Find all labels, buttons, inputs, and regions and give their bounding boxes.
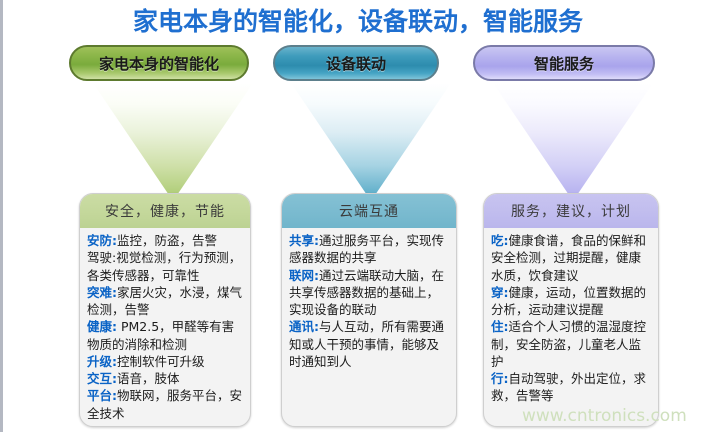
funnel-arrow-blue <box>291 83 451 201</box>
card-appliance-intelligence: 安全，健康，节能 安防:监控，防盗，告警 驾驶:视觉检测，行为预测，各类传感器，… <box>79 193 251 427</box>
list-item: 行:自动驾驶，外出定位，求救，告警等 <box>491 370 652 405</box>
item-label: 平台: <box>87 388 117 403</box>
list-item: 驾驶:视觉检测，行为预测，各类传感器，可靠性 <box>87 249 244 284</box>
item-label: 健康: <box>87 319 117 334</box>
item-label: 穿: <box>491 285 509 300</box>
card-body: 共享:通过服务平台，实现传感器数据的共享 联网:通过云端联动大脑，在共享传感器数… <box>282 228 456 370</box>
pill-label: 家电本身的智能化 <box>99 53 219 74</box>
item-label: 联网: <box>289 268 319 283</box>
list-item: 联网:通过云端联动大脑，在共享传感器数据的基础上，实现设备的联动 <box>289 267 450 319</box>
list-item: 平台:物联网，服务平台，安全技术 <box>87 387 244 422</box>
item-label: 交互: <box>87 371 117 386</box>
list-item: 健康: PM2.5，甲醛等有害物质的消除和检测 <box>87 318 244 353</box>
page-title: 家电本身的智能化，设备联动，智能服务 <box>3 2 710 38</box>
funnel-arrow-green <box>93 83 253 201</box>
card-band-label: 云端互通 <box>282 194 456 228</box>
list-item: 交互:语音，肢体 <box>87 370 244 387</box>
card-body: 吃:健康食谱，食品的保鲜和安全检测，过期提醒，健康水质，饮食建议 穿:健康，运动… <box>484 228 658 405</box>
card-band-label: 安全，健康，节能 <box>80 194 250 228</box>
item-label: 住: <box>491 319 509 334</box>
pill-label: 智能服务 <box>534 53 594 74</box>
item-label: 驾驶: <box>87 250 116 265</box>
list-item: 突难:家居火灾，水浸，煤气检测，告警 <box>87 284 244 319</box>
site-watermark: www.cntronics.com <box>522 406 687 426</box>
pill-appliance-intelligence[interactable]: 家电本身的智能化 <box>69 45 249 81</box>
item-text: 适合个人习惯的温湿度控制，安全防盗，儿童老人监护 <box>491 319 646 369</box>
list-item: 通讯:与人互动，所有需要通知或人干预的事情，能够及时通知到人 <box>289 318 450 370</box>
item-label: 吃: <box>491 233 509 248</box>
list-item: 穿:健康，运动，位置数据的分析，运动建议提醒 <box>491 284 652 319</box>
pill-smart-service[interactable]: 智能服务 <box>473 45 655 81</box>
item-label: 通讯: <box>289 319 319 334</box>
list-item: 安防:监控，防盗，告警 <box>87 232 244 249</box>
list-item: 共享:通过服务平台，实现传感器数据的共享 <box>289 232 450 267</box>
item-label: 升级: <box>87 354 117 369</box>
card-device-interlock: 云端互通 共享:通过服务平台，实现传感器数据的共享 联网:通过云端联动大脑，在共… <box>281 193 457 427</box>
slide-canvas: 家电本身的智能化，设备联动，智能服务 家电本身的智能化 安全，健康，节能 安防:… <box>0 0 710 432</box>
card-band-label: 服务，建议，计划 <box>484 194 658 228</box>
item-text: 语音，肢体 <box>117 371 180 386</box>
list-item: 吃:健康食谱，食品的保鲜和安全检测，过期提醒，健康水质，饮食建议 <box>491 232 652 284</box>
pill-label: 设备联动 <box>326 53 386 74</box>
pill-device-interlock[interactable]: 设备联动 <box>273 45 439 81</box>
item-label: 共享: <box>289 233 319 248</box>
list-item: 升级:控制软件可升级 <box>87 353 244 370</box>
card-body: 安防:监控，防盗，告警 驾驶:视觉检测，行为预测，各类传感器，可靠性 突难:家居… <box>80 228 250 422</box>
item-label: 突难: <box>87 285 117 300</box>
item-text: 监控，防盗，告警 <box>117 233 217 248</box>
item-text: 控制软件可升级 <box>117 354 205 369</box>
item-text: 自动驾驶，外出定位，求救，告警等 <box>491 371 646 403</box>
item-label: 行: <box>491 371 509 386</box>
item-text: 健康，运动，位置数据的分析，运动建议提醒 <box>491 285 646 317</box>
item-text: 健康食谱，食品的保鲜和安全检测，过期提醒，健康水质，饮食建议 <box>491 233 646 283</box>
funnel-arrow-purple <box>493 83 653 201</box>
card-smart-service: 服务，建议，计划 吃:健康食谱，食品的保鲜和安全检测，过期提醒，健康水质，饮食建… <box>483 193 659 427</box>
list-item: 住:适合个人习惯的温湿度控制，安全防盗，儿童老人监护 <box>491 318 652 370</box>
item-label: 安防: <box>87 233 117 248</box>
